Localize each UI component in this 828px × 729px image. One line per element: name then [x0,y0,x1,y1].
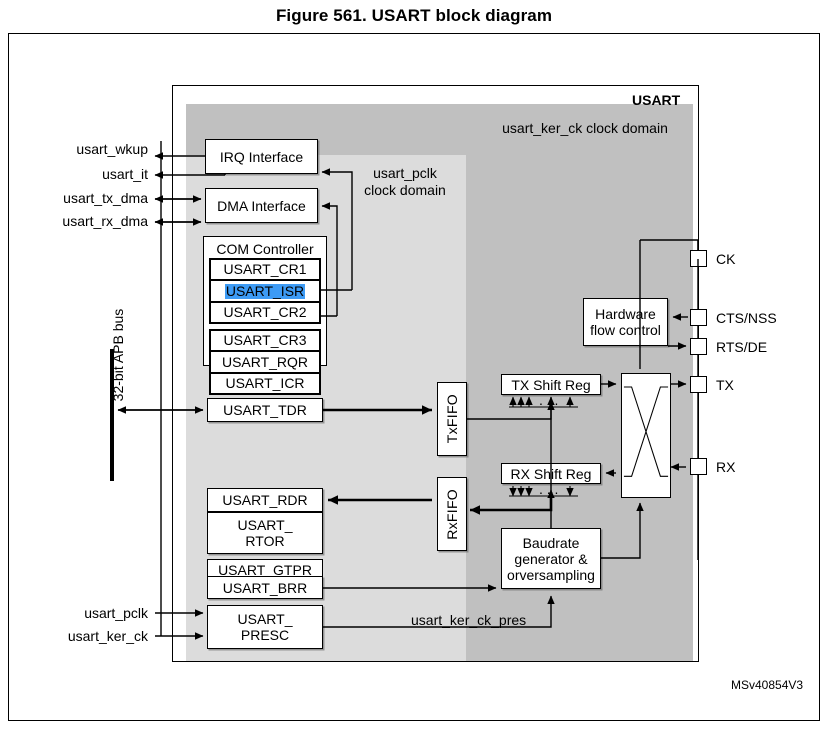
pin-tx[interactable] [690,376,707,393]
tx-fifo-label: TxFIFO [444,394,460,443]
register-usart-rtor-label: USART_RTOR [238,517,293,549]
com-controller-title: COM Controller [203,241,327,257]
tx-fifo-block[interactable]: TxFIFO [437,382,467,456]
register-usart-cr1[interactable]: USART_CR1 [210,259,320,280]
register-usart-icr[interactable]: USART_ICR [210,373,320,394]
rx-fifo-label: RxFIFO [444,489,460,540]
signal-label-usart-pclk: usart_pclk [20,605,148,621]
register-usart-cr2[interactable]: USART_CR2 [210,302,320,323]
register-usart-rtor[interactable]: USART_RTOR [207,512,323,554]
usart-presc-label: USART_PRESC [238,611,293,643]
figure-title: Figure 561. USART block diagram [0,6,828,26]
kernel-clock-domain-label: usart_ker_ck clock domain [470,120,700,137]
peripheral-clock-domain-label: usart_pclk clock domain [340,165,470,199]
pin-label-cts-nss: CTS/NSS [716,310,777,326]
rx-fifo-block[interactable]: RxFIFO [437,477,467,551]
signal-label-usart-rx-dma: usart_rx_dma [20,213,148,229]
register-usart-rqr[interactable]: USART_RQR [210,351,320,373]
dma-interface-block[interactable]: DMA Interface [205,188,318,223]
peripheral-clock-domain-label-line1: usart_pclk [373,165,437,181]
baudrate-generator-block[interactable]: Baudrate generator & orversampling [501,528,601,589]
pin-label-ck: CK [716,251,735,267]
pin-cts-nss[interactable] [690,309,707,326]
hardware-flow-control-label: Hardwareflow control [590,306,661,338]
figure-canvas: Figure 561. USART block diagram USART us… [0,0,828,729]
figure-watermark: MSv40854V3 [731,678,803,692]
pin-label-tx: TX [716,377,734,393]
signal-label-usart-tx-dma: usart_tx_dma [20,190,148,206]
pin-rts-de[interactable] [690,338,707,355]
signal-label-usart-ker-ck: usart_ker_ck [20,628,148,644]
signal-label-usart-wkup: usart_wkup [20,141,148,157]
usart-presc-block[interactable]: USART_PRESC [207,605,323,649]
usart-module-label: USART [632,92,680,108]
rx-shift-reg-block[interactable]: RX Shift Reg [501,463,601,484]
pin-rx[interactable] [690,458,707,475]
swap-crossover-icon [622,373,670,498]
tx-rx-swap-block[interactable] [621,373,671,498]
baudrate-generator-label: Baudrate generator & orversampling [507,535,595,583]
tx-shift-reg-block[interactable]: TX Shift Reg [501,374,601,395]
register-usart-isr[interactable]: USART_ISR [210,280,320,302]
pin-ck[interactable] [690,250,707,267]
register-usart-rdr[interactable]: USART_RDR [207,488,323,512]
register-usart-brr[interactable]: USART_BRR [207,576,323,599]
apb-bus-label: 32-bit APB bus [110,285,130,425]
register-usart-cr3[interactable]: USART_CR3 [210,330,320,351]
irq-interface-block[interactable]: IRQ Interface [205,139,318,174]
register-usart-tdr[interactable]: USART_TDR [207,398,323,422]
register-usart-isr-label: USART_ISR [225,284,305,299]
signal-label-usart-it: usart_it [20,166,148,182]
peripheral-clock-domain-label-line2: clock domain [364,182,446,198]
pin-label-rts-de: RTS/DE [716,339,767,355]
hardware-flow-control-block[interactable]: Hardwareflow control [583,298,668,346]
pin-label-rx: RX [716,459,735,475]
